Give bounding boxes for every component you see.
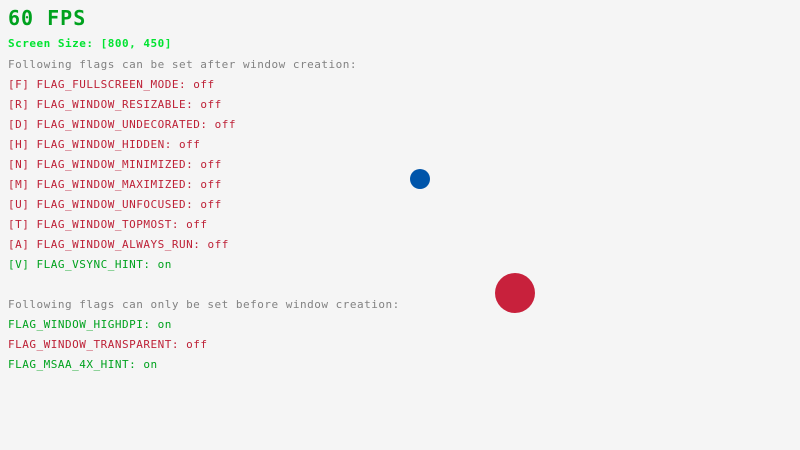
flag-hotkey: [F] xyxy=(8,78,37,91)
runtime-flags-heading: Following flags can be set after window … xyxy=(8,59,357,70)
flag-row[interactable]: [T] FLAG_WINDOW_TOPMOST: off xyxy=(8,219,207,230)
flag-row[interactable]: [V] FLAG_VSYNC_HINT: on xyxy=(8,259,172,270)
bouncing-ball-red xyxy=(495,273,535,313)
flag-state: off xyxy=(200,198,221,211)
flag-name: FLAG_WINDOW_UNFOCUSED: xyxy=(37,198,201,211)
flag-hotkey: [H] xyxy=(8,138,37,151)
flag-row[interactable]: [F] FLAG_FULLSCREEN_MODE: off xyxy=(8,79,215,90)
flag-name: FLAG_WINDOW_ALWAYS_RUN: xyxy=(37,238,208,251)
flag-row[interactable]: FLAG_WINDOW_TRANSPARENT: off xyxy=(8,339,207,350)
raylib-window: 60 FPS Screen Size: [800, 450] Following… xyxy=(0,0,800,450)
fps-counter: 60 FPS xyxy=(8,8,86,28)
flag-state: off xyxy=(200,98,221,111)
flag-row[interactable]: [D] FLAG_WINDOW_UNDECORATED: off xyxy=(8,119,236,130)
flag-name: FLAG_WINDOW_HIGHDPI: xyxy=(8,318,158,331)
flag-state: off xyxy=(207,238,228,251)
flag-row[interactable]: [A] FLAG_WINDOW_ALWAYS_RUN: off xyxy=(8,239,229,250)
flag-hotkey: [T] xyxy=(8,218,37,231)
flag-state: off xyxy=(186,218,207,231)
flag-name: FLAG_WINDOW_UNDECORATED: xyxy=(37,118,215,131)
flag-name: FLAG_WINDOW_HIDDEN: xyxy=(37,138,179,151)
creation-flags-heading: Following flags can only be set before w… xyxy=(8,299,400,310)
flag-name: FLAG_WINDOW_MINIMIZED: xyxy=(37,158,201,171)
flag-name: FLAG_VSYNC_HINT: xyxy=(37,258,158,271)
flag-hotkey: [D] xyxy=(8,118,37,131)
flag-row[interactable]: [N] FLAG_WINDOW_MINIMIZED: off xyxy=(8,159,222,170)
flag-state: off xyxy=(186,338,207,351)
flag-state: off xyxy=(193,78,214,91)
flag-state: off xyxy=(200,158,221,171)
flag-name: FLAG_WINDOW_RESIZABLE: xyxy=(37,98,201,111)
flag-state: on xyxy=(158,258,172,271)
flag-hotkey: [R] xyxy=(8,98,37,111)
flag-state: off xyxy=(200,178,221,191)
flag-row[interactable]: [R] FLAG_WINDOW_RESIZABLE: off xyxy=(8,99,222,110)
bouncing-ball-blue xyxy=(410,169,430,189)
flag-row[interactable]: [H] FLAG_WINDOW_HIDDEN: off xyxy=(8,139,200,150)
flag-state: on xyxy=(143,358,157,371)
flag-row[interactable]: [M] FLAG_WINDOW_MAXIMIZED: off xyxy=(8,179,222,190)
flag-name: FLAG_WINDOW_TRANSPARENT: xyxy=(8,338,186,351)
flag-name: FLAG_WINDOW_MAXIMIZED: xyxy=(37,178,201,191)
flag-state: off xyxy=(215,118,236,131)
screen-size-label: Screen Size: [800, 450] xyxy=(8,38,172,49)
flag-hotkey: [N] xyxy=(8,158,37,171)
flag-hotkey: [V] xyxy=(8,258,37,271)
flag-name: FLAG_FULLSCREEN_MODE: xyxy=(37,78,194,91)
flag-state: on xyxy=(158,318,172,331)
flag-row[interactable]: FLAG_MSAA_4X_HINT: on xyxy=(8,359,158,370)
flag-hotkey: [U] xyxy=(8,198,37,211)
flag-row[interactable]: FLAG_WINDOW_HIGHDPI: on xyxy=(8,319,172,330)
flag-hotkey: [A] xyxy=(8,238,37,251)
flag-name: FLAG_MSAA_4X_HINT: xyxy=(8,358,143,371)
flag-name: FLAG_WINDOW_TOPMOST: xyxy=(37,218,187,231)
flag-row[interactable]: [U] FLAG_WINDOW_UNFOCUSED: off xyxy=(8,199,222,210)
flag-state: off xyxy=(179,138,200,151)
flag-hotkey: [M] xyxy=(8,178,37,191)
